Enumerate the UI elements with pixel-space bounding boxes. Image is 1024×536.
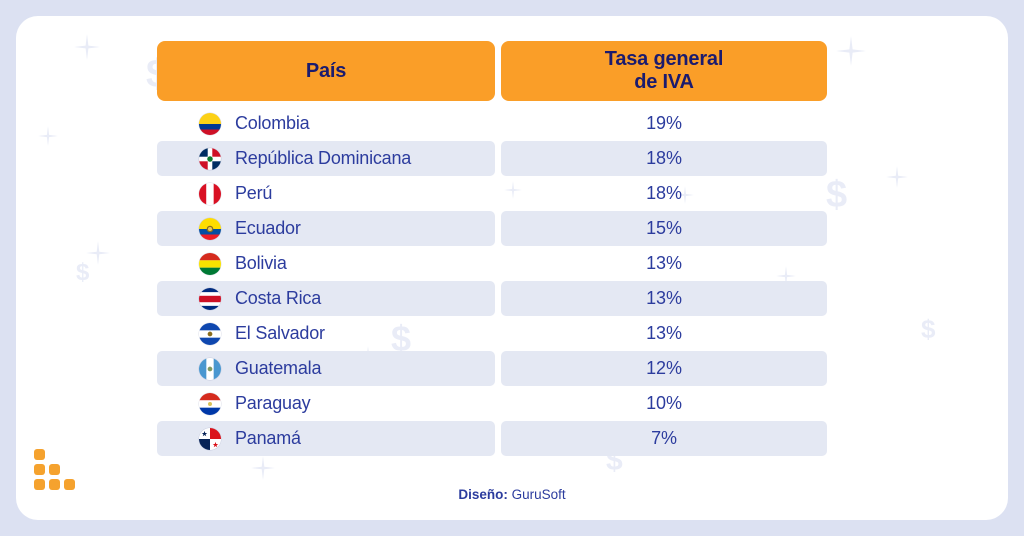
column-header-vat-rate-line1: Tasa general xyxy=(605,48,723,70)
cell-vat-rate: 7% xyxy=(501,421,827,456)
dominican-republic-flag-icon xyxy=(199,148,221,170)
country-name: República Dominicana xyxy=(235,148,411,169)
vat-rate-value: 13% xyxy=(646,288,682,309)
logo-square xyxy=(34,449,45,460)
cell-country: Perú xyxy=(157,176,495,211)
footer-credit: Diseño: GuruSoft xyxy=(16,487,1008,502)
dollar-sign-watermark: $ xyxy=(826,176,847,214)
logo-square-empty xyxy=(64,464,75,475)
country-name: Perú xyxy=(235,183,272,204)
country-name: Guatemala xyxy=(235,358,321,379)
cell-vat-rate: 13% xyxy=(501,316,827,351)
vat-rate-value: 12% xyxy=(646,358,682,379)
colombia-flag-icon xyxy=(199,113,221,135)
sparkle-icon xyxy=(86,241,110,265)
sparkle-icon xyxy=(886,166,908,188)
infographic-card: $ $ $ $ $ $ xyxy=(16,16,1008,520)
table-row: El Salvador 13% xyxy=(157,316,827,351)
vat-rate-value: 18% xyxy=(646,183,682,204)
paraguay-flag-icon xyxy=(199,393,221,415)
cell-country: Ecuador xyxy=(157,211,495,246)
vat-rate-value: 7% xyxy=(651,428,677,449)
vat-rate-value: 10% xyxy=(646,393,682,414)
column-header-vat-rate: Tasa general de IVA xyxy=(501,41,827,101)
vat-rate-value: 13% xyxy=(646,253,682,274)
country-name: Colombia xyxy=(235,113,309,134)
dollar-sign-watermark: $ xyxy=(921,316,935,342)
peru-flag-icon xyxy=(199,183,221,205)
guatemala-flag-icon xyxy=(199,358,221,380)
cell-country: Guatemala xyxy=(157,351,495,386)
costa-rica-flag-icon xyxy=(199,288,221,310)
vat-rate-value: 19% xyxy=(646,113,682,134)
cell-vat-rate: 10% xyxy=(501,386,827,421)
cell-country: Paraguay xyxy=(157,386,495,421)
cell-vat-rate: 19% xyxy=(501,106,827,141)
vat-rate-value: 15% xyxy=(646,218,682,239)
logo-square xyxy=(34,464,45,475)
table-row: Paraguay 10% xyxy=(157,386,827,421)
table-row: Perú 18% xyxy=(157,176,827,211)
country-name: Ecuador xyxy=(235,218,301,239)
table-row: República Dominicana 18% xyxy=(157,141,827,176)
footer-credit-label: Diseño: xyxy=(458,487,508,502)
cell-country: República Dominicana xyxy=(157,141,495,176)
cell-country: Panamá xyxy=(157,421,495,456)
table-row: Panamá 7% xyxy=(157,421,827,456)
footer-credit-value: GuruSoft xyxy=(508,487,566,502)
country-name: Panamá xyxy=(235,428,301,449)
country-name: Bolivia xyxy=(235,253,287,274)
panama-flag-icon xyxy=(199,428,221,450)
el-salvador-flag-icon xyxy=(199,323,221,345)
cell-vat-rate: 12% xyxy=(501,351,827,386)
column-header-country-label: País xyxy=(306,60,346,83)
country-name: Costa Rica xyxy=(235,288,321,309)
table-row: Guatemala 12% xyxy=(157,351,827,386)
cell-vat-rate: 13% xyxy=(501,281,827,316)
table-row: Costa Rica 13% xyxy=(157,281,827,316)
dollar-sign-watermark: $ xyxy=(76,261,89,285)
cell-country: Bolivia xyxy=(157,246,495,281)
cell-country: Costa Rica xyxy=(157,281,495,316)
ecuador-flag-icon xyxy=(199,218,221,240)
sparkle-icon xyxy=(74,34,100,60)
column-header-country: País xyxy=(157,41,495,101)
table-header-row: País Tasa general de IVA xyxy=(157,41,827,101)
table-row: Ecuador 15% xyxy=(157,211,827,246)
table-row: Bolivia 13% xyxy=(157,246,827,281)
vat-rate-value: 13% xyxy=(646,323,682,344)
cell-vat-rate: 18% xyxy=(501,176,827,211)
country-name: Paraguay xyxy=(235,393,310,414)
country-name: El Salvador xyxy=(235,323,325,344)
sparkle-icon xyxy=(836,36,866,66)
cell-vat-rate: 13% xyxy=(501,246,827,281)
gurusoft-logo xyxy=(34,449,75,490)
column-header-vat-rate-line2: de IVA xyxy=(634,71,694,93)
logo-square-empty xyxy=(64,449,75,460)
cell-vat-rate: 18% xyxy=(501,141,827,176)
vat-rate-table: País Tasa general de IVA Colombia xyxy=(157,41,827,456)
cell-country: El Salvador xyxy=(157,316,495,351)
sparkle-icon xyxy=(38,126,58,146)
logo-square xyxy=(49,464,60,475)
sparkle-icon xyxy=(251,456,275,480)
table-row: Colombia 19% xyxy=(157,106,827,141)
vat-rate-value: 18% xyxy=(646,148,682,169)
cell-country: Colombia xyxy=(157,106,495,141)
bolivia-flag-icon xyxy=(199,253,221,275)
column-header-vat-rate-label: Tasa general de IVA xyxy=(605,48,723,94)
logo-square-empty xyxy=(49,449,60,460)
table-body: Colombia 19% R xyxy=(157,106,827,456)
cell-vat-rate: 15% xyxy=(501,211,827,246)
